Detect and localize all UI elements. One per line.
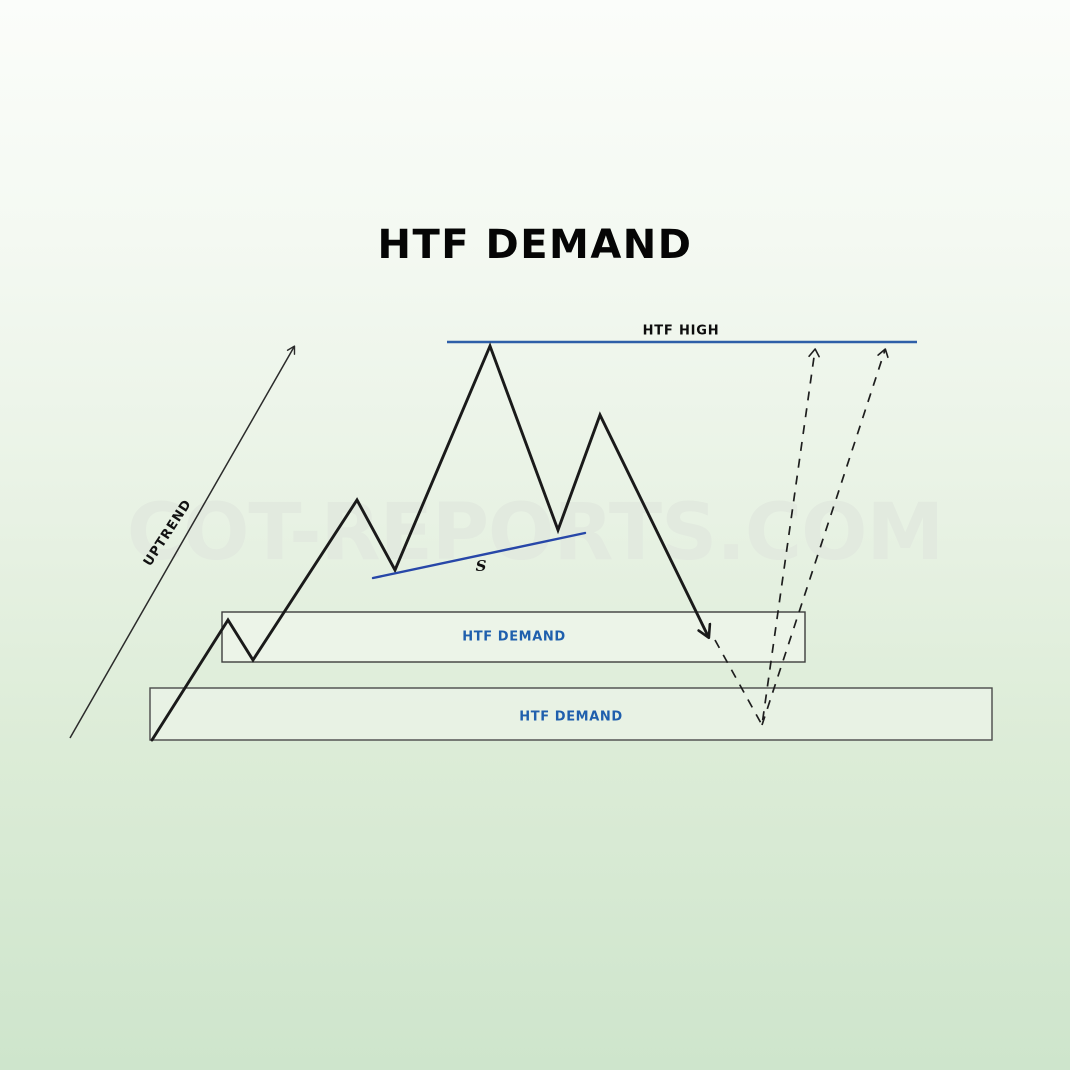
diagram-canvas: COT-REPORTS.COM HTF DEMAND xyxy=(0,0,1070,1070)
projection-path-2 xyxy=(762,350,885,725)
supply-marker-label: S xyxy=(476,557,487,575)
htf-demand-lower-label: HTF DEMAND xyxy=(519,710,623,725)
htf-high-label: HTF HIGH xyxy=(643,324,720,339)
uptrend-arrow xyxy=(70,347,294,738)
projection-path-1 xyxy=(715,350,815,725)
htf-demand-upper-label: HTF DEMAND xyxy=(462,630,566,645)
price-action-line xyxy=(152,346,708,740)
